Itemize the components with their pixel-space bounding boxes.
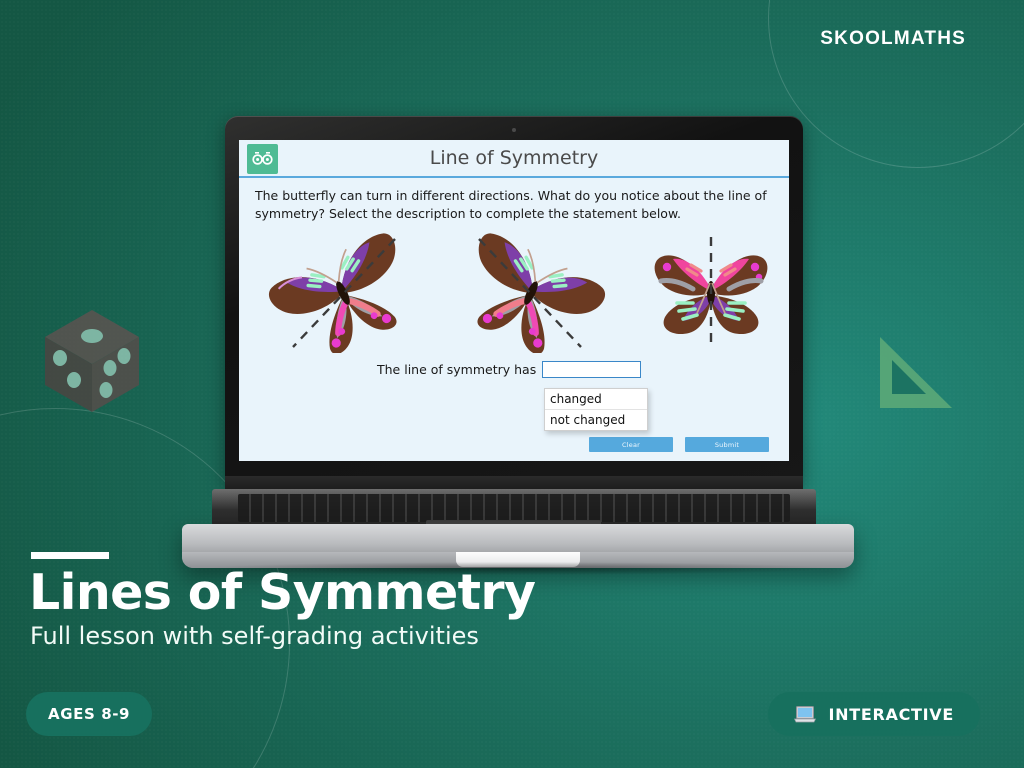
lesson-app: Line of Symmetry The butterfly can turn … bbox=[239, 140, 789, 461]
title-accent-rule bbox=[31, 552, 109, 559]
lesson-title: Line of Symmetry bbox=[239, 147, 789, 169]
lesson-instructions: The butterfly can turn in different dire… bbox=[239, 178, 789, 223]
page-title: Lines of Symmetry bbox=[29, 564, 535, 621]
interactive-badge: INTERACTIVE bbox=[768, 692, 980, 736]
butterfly-upright bbox=[647, 235, 775, 349]
dice-icon bbox=[40, 306, 144, 416]
laptop-icon bbox=[794, 706, 816, 723]
action-bar: Clear Submit bbox=[239, 437, 789, 452]
laptop-screen: Line of Symmetry The butterfly can turn … bbox=[239, 140, 789, 461]
statement-prefix: The line of symmetry has bbox=[377, 362, 536, 377]
laptop-keyboard bbox=[238, 494, 790, 522]
page-subtitle: Full lesson with self-grading activities bbox=[30, 622, 479, 650]
interactive-badge-label: INTERACTIVE bbox=[828, 705, 954, 724]
clear-button[interactable]: Clear bbox=[589, 437, 673, 452]
webcam-icon bbox=[512, 128, 516, 132]
butterfly-illustrations bbox=[239, 229, 789, 357]
answer-input[interactable] bbox=[542, 361, 641, 378]
butterfly-tilted-left bbox=[263, 231, 423, 353]
lesson-header: Line of Symmetry bbox=[239, 140, 789, 178]
ages-badge: AGES 8-9 bbox=[26, 692, 152, 736]
brand-wordmark: SKOOLMATHS bbox=[820, 28, 966, 50]
dropdown-option-not-changed[interactable]: not changed bbox=[545, 409, 647, 430]
set-square-triangle-icon bbox=[872, 334, 958, 414]
submit-button[interactable]: Submit bbox=[685, 437, 769, 452]
answer-statement-row: The line of symmetry has changed not cha… bbox=[239, 361, 789, 378]
butterfly-tilted-right bbox=[451, 231, 611, 353]
laptop-lid: Line of Symmetry The butterfly can turn … bbox=[225, 116, 803, 486]
ages-badge-label: AGES 8-9 bbox=[48, 705, 130, 723]
answer-dropdown[interactable]: changed not changed bbox=[544, 388, 648, 431]
laptop-mockup: Line of Symmetry The butterfly can turn … bbox=[176, 116, 876, 556]
dropdown-option-changed[interactable]: changed bbox=[545, 389, 647, 409]
